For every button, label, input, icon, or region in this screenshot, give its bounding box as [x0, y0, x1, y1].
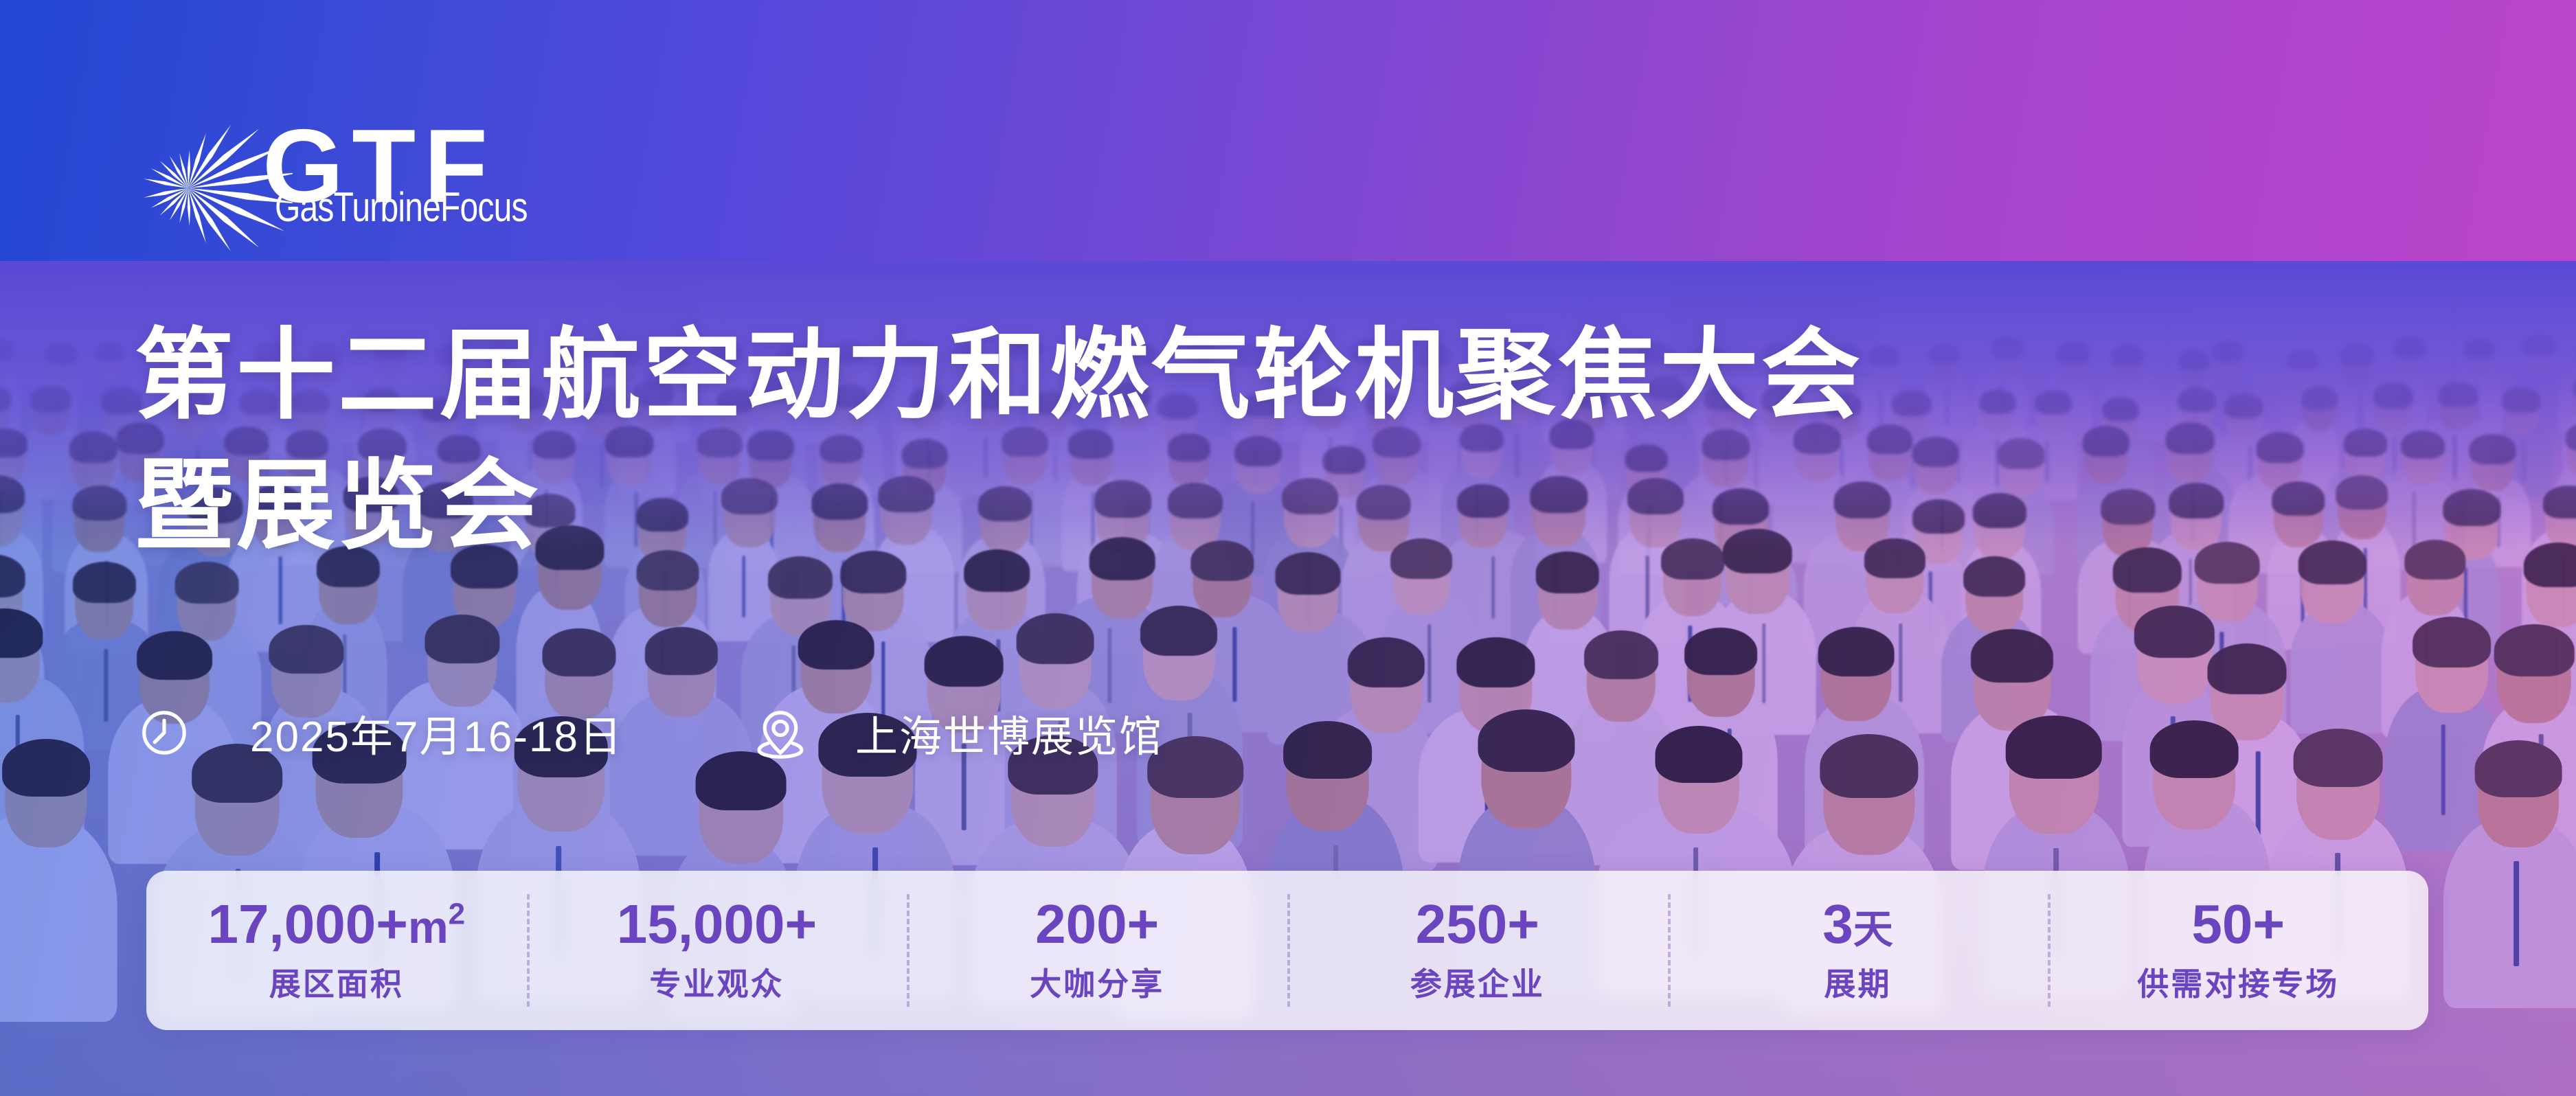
stat-label: 参展企业 — [1410, 959, 1545, 1005]
stat-item: 15,000+专业观众 — [527, 871, 907, 1030]
event-date: 2025年7月16-18日 — [137, 702, 623, 764]
stat-item: 3天展期 — [1668, 871, 2048, 1030]
event-stats-bar: 17,000+m2展区面积15,000+专业观众200+大咖分享250+参展企业… — [146, 871, 2428, 1030]
title-line-1: 第十二届航空动力和燃气轮机聚焦大会 — [135, 310, 1863, 441]
stat-item: 200+大咖分享 — [907, 871, 1287, 1030]
event-date-text: 2025年7月16-18日 — [250, 702, 623, 764]
stat-value: 15,000+ — [617, 896, 817, 952]
stat-value: 50+ — [2191, 896, 2285, 952]
event-meta-row: 2025年7月16-18日 上海世博展览馆 — [137, 702, 1163, 764]
stat-label: 供需对接专场 — [2137, 959, 2339, 1005]
event-venue-text: 上海世博展览馆 — [855, 702, 1163, 764]
logo-sub-text: GasTurbineFocus — [275, 187, 528, 228]
event-venue: 上海世博展览馆 — [754, 702, 1163, 764]
stat-value: 3天 — [1822, 896, 1893, 952]
clock-icon — [137, 706, 191, 760]
stat-value: 250+ — [1416, 896, 1539, 952]
stat-item: 50+供需对接专场 — [2048, 871, 2428, 1030]
stat-label: 展区面积 — [269, 959, 404, 1005]
logo-wordmark: GTF GasTurbineFocus — [262, 118, 530, 255]
stat-label: 展期 — [1824, 959, 1892, 1005]
stat-value: 200+ — [1035, 896, 1159, 952]
stat-label: 专业观众 — [650, 959, 784, 1005]
stat-item: 17,000+m2展区面积 — [146, 871, 527, 1030]
location-pin-icon — [754, 706, 807, 760]
event-banner: GTF GasTurbineFocus 第十二届航空动力和燃气轮机聚焦大会 暨展… — [0, 0, 2576, 1096]
title-line-2: 暨展览会 — [135, 441, 1863, 571]
page-title: 第十二届航空动力和燃气轮机聚焦大会 暨展览会 — [135, 310, 1863, 571]
stat-label: 大咖分享 — [1030, 959, 1164, 1005]
stat-item: 250+参展企业 — [1287, 871, 1668, 1030]
stat-value: 17,000+m2 — [208, 896, 466, 952]
gtf-logo[interactable]: GTF GasTurbineFocus — [135, 118, 526, 255]
